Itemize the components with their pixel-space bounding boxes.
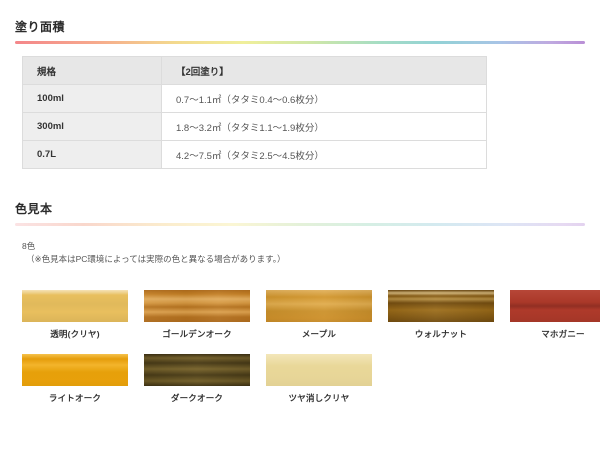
swatch-chip-maple[interactable]	[266, 290, 372, 322]
coverage-table-body: 100ml 0.7～1.1㎡（タタミ0.4～0.6枚分） 300ml 1.8～3…	[23, 85, 487, 169]
color-samples-section-heading: 色見本	[0, 200, 600, 226]
column-header-spec: 規格	[23, 57, 162, 85]
swatch-chip-walnut[interactable]	[388, 290, 494, 322]
swatch-chip-dark-oak[interactable]	[144, 354, 250, 386]
swatch-label-matte-clear: ツヤ消しクリヤ	[266, 386, 372, 404]
coverage-table: 規格 【2回塗り】 100ml 0.7～1.1㎡（タタミ0.4～0.6枚分） 3…	[22, 56, 487, 169]
table-row: 300ml 1.8～3.2㎡（タタミ1.1～1.9枚分）	[23, 113, 487, 141]
paint-area-section-heading: 塗り面積	[0, 18, 600, 44]
rainbow-divider-secondary	[15, 223, 585, 226]
swatch-item-maple[interactable]: メープル	[266, 290, 372, 340]
swatch-item-walnut[interactable]: ウォルナット	[388, 290, 494, 340]
swatch-row-2: ライトオーク ダークオーク ツヤ消しクリヤ	[22, 354, 582, 404]
color-samples-note: 8色 （※色見本はPC環境によっては実際の色と異なる場合があります。）	[22, 240, 285, 266]
swatch-label-light-oak: ライトオーク	[22, 386, 128, 404]
cell-coverage: 4.2～7.5㎡（タタミ2.5～4.5枚分）	[162, 141, 487, 169]
column-header-coverage: 【2回塗り】	[162, 57, 487, 85]
swatch-chip-clear[interactable]	[22, 290, 128, 322]
paint-area-title: 塗り面積	[15, 18, 585, 41]
color-samples-title: 色見本	[15, 200, 585, 223]
cell-coverage: 0.7～1.1㎡（タタミ0.4～0.6枚分）	[162, 85, 487, 113]
cell-coverage: 1.8～3.2㎡（タタミ1.1～1.9枚分）	[162, 113, 487, 141]
coverage-table-head: 規格 【2回塗り】	[23, 57, 487, 85]
table-row: 100ml 0.7～1.1㎡（タタミ0.4～0.6枚分）	[23, 85, 487, 113]
swatch-label-maple: メープル	[266, 322, 372, 340]
rainbow-divider-primary	[15, 41, 585, 44]
swatch-chip-light-oak[interactable]	[22, 354, 128, 386]
swatch-label-dark-oak: ダークオーク	[144, 386, 250, 404]
color-disclaimer-text: （※色見本はPC環境によっては実際の色と異なる場合があります。）	[22, 253, 285, 266]
color-swatch-grid: 透明(クリヤ) ゴールデンオーク メープル ウォルナット マホガニー	[22, 290, 582, 418]
cell-spec: 300ml	[23, 113, 162, 141]
swatch-item-light-oak[interactable]: ライトオーク	[22, 354, 128, 404]
swatch-label-clear: 透明(クリヤ)	[22, 322, 128, 340]
swatch-row-1: 透明(クリヤ) ゴールデンオーク メープル ウォルナット マホガニー	[22, 290, 582, 340]
swatch-label-mahogany: マホガニー	[510, 322, 600, 340]
page-root: 塗り面積 規格 【2回塗り】 100ml 0.7～1.1㎡（タタミ0.4～0.6…	[0, 0, 600, 450]
coverage-table-wrapper: 規格 【2回塗り】 100ml 0.7～1.1㎡（タタミ0.4～0.6枚分） 3…	[22, 56, 487, 169]
swatch-item-matte-clear[interactable]: ツヤ消しクリヤ	[266, 354, 372, 404]
swatch-chip-matte-clear[interactable]	[266, 354, 372, 386]
swatch-chip-mahogany[interactable]	[510, 290, 600, 322]
color-count-label: 8色	[22, 240, 285, 253]
table-header-row: 規格 【2回塗り】	[23, 57, 487, 85]
cell-spec: 0.7L	[23, 141, 162, 169]
swatch-chip-golden-oak[interactable]	[144, 290, 250, 322]
swatch-item-mahogany[interactable]: マホガニー	[510, 290, 600, 340]
table-row: 0.7L 4.2～7.5㎡（タタミ2.5～4.5枚分）	[23, 141, 487, 169]
swatch-item-golden-oak[interactable]: ゴールデンオーク	[144, 290, 250, 340]
cell-spec: 100ml	[23, 85, 162, 113]
swatch-item-dark-oak[interactable]: ダークオーク	[144, 354, 250, 404]
swatch-item-clear[interactable]: 透明(クリヤ)	[22, 290, 128, 340]
swatch-label-golden-oak: ゴールデンオーク	[144, 322, 250, 340]
swatch-label-walnut: ウォルナット	[388, 322, 494, 340]
